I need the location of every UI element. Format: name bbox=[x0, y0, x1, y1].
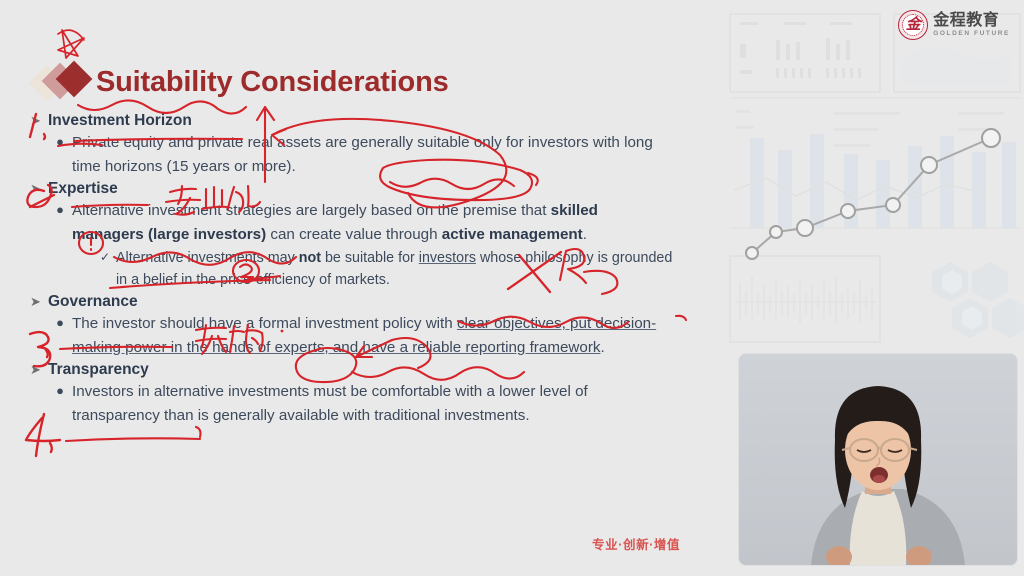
bullet-segment: The investor should have a formal invest… bbox=[72, 315, 457, 332]
footer-tagline: 专业·创新·增值 bbox=[592, 534, 680, 553]
bullet-segment: . bbox=[583, 226, 587, 243]
arrow-icon: ➤ bbox=[30, 114, 48, 127]
title-row: Suitability Considerations bbox=[34, 62, 449, 102]
logo-text: 金程教育 GOLDEN FUTURE bbox=[933, 13, 1010, 38]
bullet-dot-icon: ● bbox=[48, 199, 72, 246]
bullet-dot-icon: ● bbox=[48, 380, 72, 427]
arrow-icon: ➤ bbox=[30, 295, 48, 308]
section-title: Transparency bbox=[48, 361, 149, 379]
check-icon: ✓ bbox=[94, 247, 116, 291]
logo-seal-icon: 金 bbox=[898, 10, 928, 40]
bullet-bold-segment: active management bbox=[442, 226, 583, 243]
bullet-segment: be suitable for bbox=[321, 250, 419, 266]
bullet-underline-segment: investors bbox=[419, 250, 476, 266]
list-item: ● Private equity and private real assets… bbox=[30, 131, 720, 178]
bullet-dot-icon: ● bbox=[48, 131, 72, 178]
star-scribble-mark bbox=[58, 30, 84, 58]
bullet-bold-segment: not bbox=[299, 250, 321, 266]
bullet-text: Investors in alternative investments mus… bbox=[72, 380, 662, 427]
background-graphics bbox=[726, 0, 1024, 352]
underline-transparency bbox=[66, 438, 200, 441]
section-title: Expertise bbox=[48, 180, 118, 198]
logo-name-en: GOLDEN FUTURE bbox=[933, 31, 1010, 38]
bg-chart-svg bbox=[726, 0, 1024, 352]
logo-name-cn: 金程教育 bbox=[933, 13, 1010, 29]
sub-bullet-text: Alternative investments may not be suita… bbox=[116, 247, 676, 291]
section-heading-investment-horizon: ➤ Investment Horizon bbox=[30, 112, 720, 130]
bullet-segment: . bbox=[600, 339, 604, 356]
section-heading-governance: ➤ Governance bbox=[30, 293, 720, 311]
presenter-video-thumbnail[interactable] bbox=[739, 354, 1017, 565]
brand-logo: 金 金程教育 GOLDEN FUTURE bbox=[898, 10, 1010, 40]
presenter-illustration bbox=[739, 354, 1017, 565]
section-title: Governance bbox=[48, 293, 138, 311]
slide-body: ➤ Investment Horizon ● Private equity an… bbox=[30, 110, 720, 427]
section-title: Investment Horizon bbox=[48, 112, 192, 130]
section-heading-expertise: ➤ Expertise bbox=[30, 180, 720, 198]
bullet-text: The investor should have a formal invest… bbox=[72, 312, 662, 359]
section-heading-transparency: ➤ Transparency bbox=[30, 361, 720, 379]
list-item: ● Investors in alternative investments m… bbox=[30, 380, 720, 427]
page-title: Suitability Considerations bbox=[96, 66, 449, 99]
bullet-segment: Alternative investment strategies are la… bbox=[72, 202, 551, 219]
slide-canvas: 金 金程教育 GOLDEN FUTURE Suitability Conside… bbox=[0, 0, 1024, 576]
diamond-decoration-icon bbox=[34, 62, 96, 102]
bullet-segment: Alternative investments may bbox=[116, 250, 299, 266]
arrow-icon: ➤ bbox=[30, 363, 48, 376]
logo-seal-glyph: 金 bbox=[906, 18, 921, 33]
tick-transparency bbox=[196, 427, 201, 437]
bullet-text: Alternative investment strategies are la… bbox=[72, 199, 662, 246]
list-item: ● The investor should have a formal inve… bbox=[30, 312, 720, 359]
bullet-dot-icon: ● bbox=[48, 312, 72, 359]
bullet-segment: can create value through bbox=[266, 226, 442, 243]
arrow-icon: ➤ bbox=[30, 182, 48, 195]
sub-list-item: ✓ Alternative investments may not be sui… bbox=[54, 247, 720, 291]
bullet-text: Private equity and private real assets a… bbox=[72, 131, 662, 178]
list-item: ● Alternative investment strategies are … bbox=[30, 199, 720, 246]
